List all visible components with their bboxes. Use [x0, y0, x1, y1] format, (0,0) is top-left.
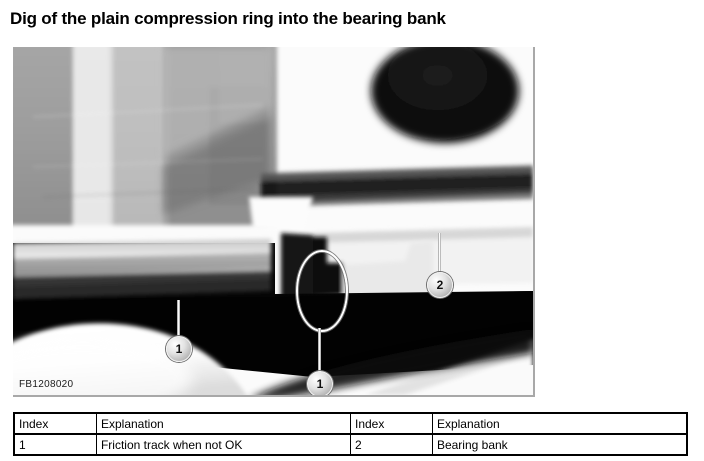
header-explanation-2: Explanation — [432, 413, 687, 434]
callout-balloon-1[interactable]: 1 — [166, 336, 192, 362]
cell-index-2: 2 — [350, 434, 432, 455]
callout-balloon-1b[interactable]: 1 — [307, 371, 333, 397]
table-header-row: Index Explanation Index Explanation — [14, 413, 687, 434]
callout-leader-line — [177, 300, 180, 340]
header-explanation-1: Explanation — [96, 413, 350, 434]
legend-table: Index Explanation Index Explanation 1 Fr… — [13, 412, 688, 456]
callout-leader-line — [438, 233, 441, 277]
callout-leader-line — [318, 328, 321, 375]
figure-code-label: FB1208020 — [19, 379, 73, 390]
cell-explanation-1: Friction track when not OK — [96, 434, 350, 455]
ellipse-annotation — [296, 250, 348, 332]
header-index-1: Index — [14, 413, 96, 434]
callout-balloon-2[interactable]: 2 — [427, 272, 453, 298]
header-index-2: Index — [350, 413, 432, 434]
cell-index-1: 1 — [14, 434, 96, 455]
page-title: Dig of the plain compression ring into t… — [10, 9, 446, 29]
cell-explanation-2: Bearing bank — [432, 434, 687, 455]
figure-container: FB1208020 1 1 2 — [13, 47, 535, 397]
table-row: 1 Friction track when not OK 2 Bearing b… — [14, 434, 687, 455]
figure-photograph — [13, 47, 533, 395]
